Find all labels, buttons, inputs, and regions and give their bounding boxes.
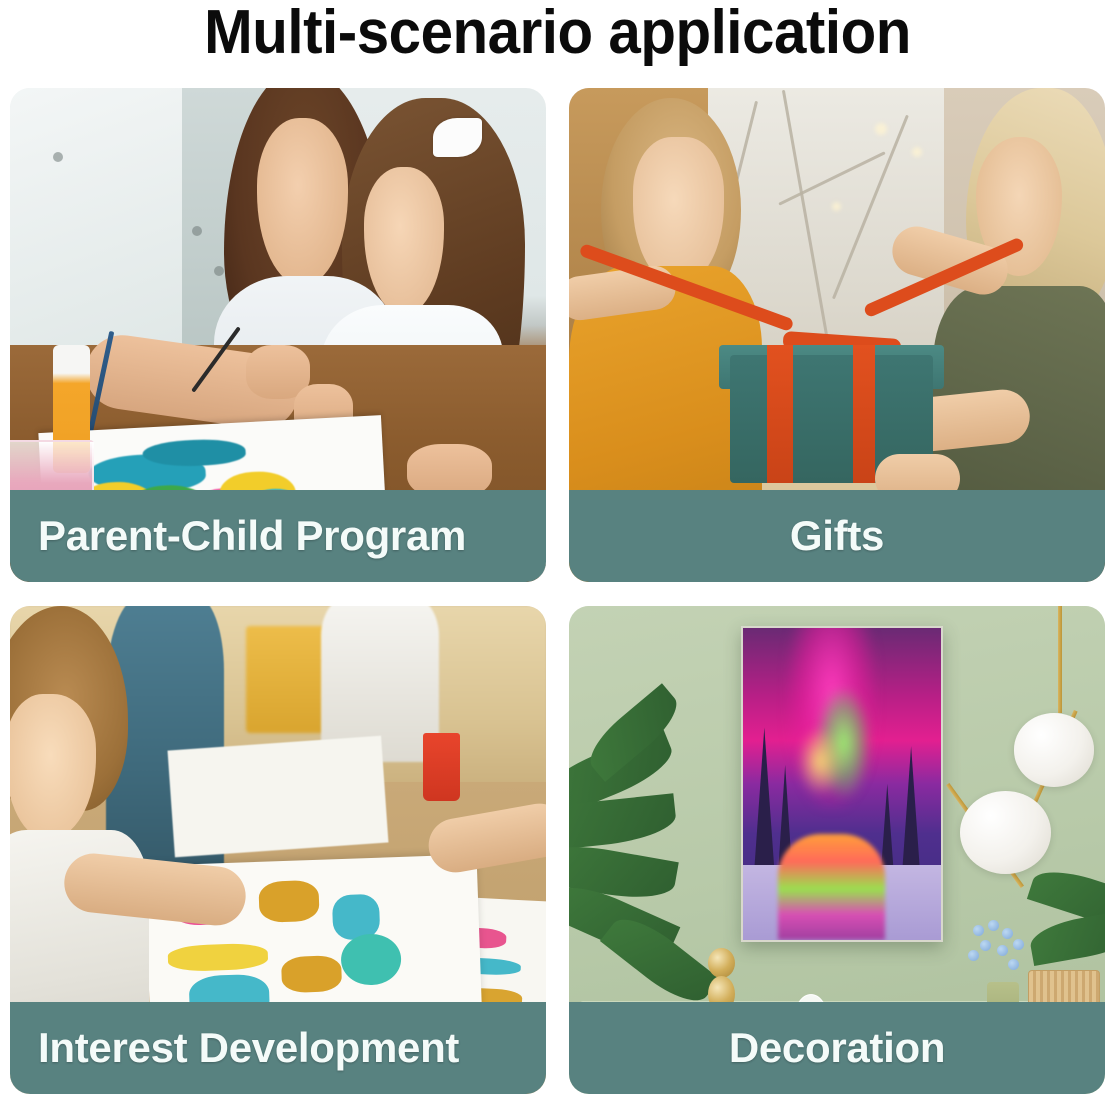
caption-bar-gifts: Gifts	[569, 490, 1105, 582]
scenario-card-gifts[interactable]: Gifts	[569, 88, 1105, 582]
red-cup	[423, 733, 461, 801]
pendant-light-rod-vertical	[1058, 606, 1062, 713]
pine-tree-right	[897, 746, 925, 871]
reflective-river	[778, 834, 885, 940]
page-title: Multi-scenario application	[33, 0, 1081, 70]
aurora-canvas-frame	[741, 626, 943, 942]
caption-label-parent-child-program: Parent-Child Program	[10, 513, 546, 559]
caption-label-gifts: Gifts	[569, 513, 1105, 559]
ribbon-vertical-2	[853, 345, 875, 483]
hair-bow	[433, 118, 481, 158]
scenario-card-decoration[interactable]: Decoration	[569, 606, 1105, 1094]
caption-label-interest-development: Interest Development	[10, 1025, 546, 1071]
ribbon-vertical	[767, 345, 793, 483]
caption-bar-parent-child-program: Parent-Child Program	[10, 490, 546, 582]
caption-bar-decoration: Decoration	[569, 1002, 1105, 1094]
scenario-card-grid: Parent-Child Program	[10, 88, 1105, 1094]
globe-light-upper	[1014, 713, 1094, 786]
scenario-card-parent-child-program[interactable]: Parent-Child Program	[10, 88, 546, 582]
aurora-artwork	[743, 628, 941, 940]
aurora-yellow-glow	[798, 727, 842, 796]
paper-background	[167, 735, 388, 857]
pine-tree-left	[748, 727, 780, 871]
background-wall-left	[10, 88, 182, 365]
scenario-card-interest-development[interactable]: Interest Development	[10, 606, 546, 1094]
caption-bar-interest-development: Interest Development	[10, 1002, 546, 1094]
caption-label-decoration: Decoration	[569, 1025, 1105, 1071]
